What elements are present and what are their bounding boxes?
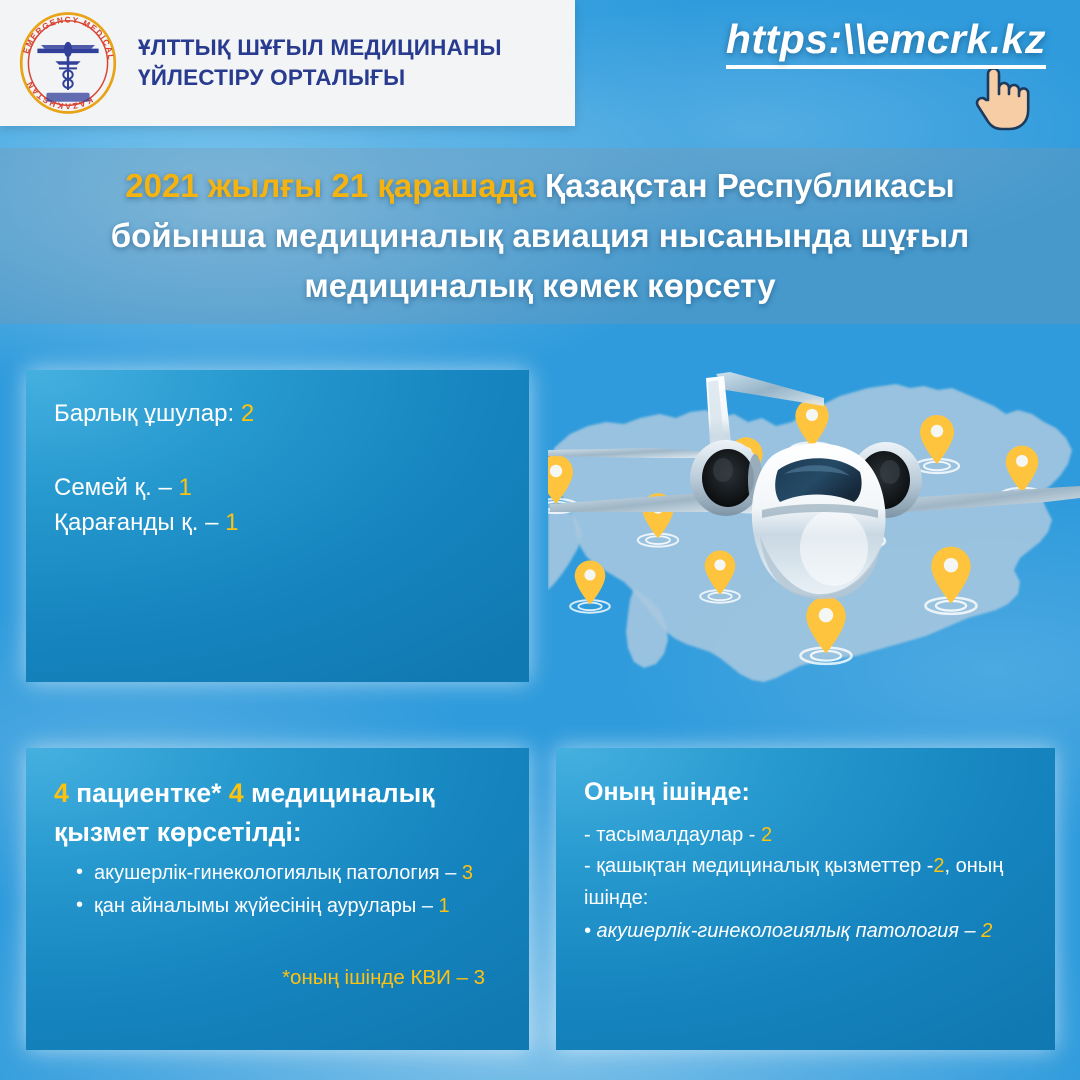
total-flights-label: Барлық ұшулар:	[54, 400, 234, 427]
diagnosis-label-0: акушерлік-гинекологиялық патология –	[94, 862, 456, 884]
panel-included-breakdown: Оның ішінде: - тасымалдаулар - 2 - қашық…	[556, 748, 1055, 1050]
patients-count: 4	[54, 778, 69, 808]
included-transports-label: - тасымалдаулар -	[584, 824, 755, 846]
panel-patients-served: 4 пациентке* 4 медициналық қызмет көрсет…	[26, 748, 529, 1050]
included-telemedicine-label: - қашықтан медициналық қызметтер -	[584, 855, 933, 877]
patients-heading-part1: пациентке*	[69, 778, 229, 808]
header-bar: EMERGENCY MEDICAL CARE OF KAZAKHSTAN	[0, 0, 575, 126]
diagnosis-value-0: 3	[462, 862, 473, 884]
infographic-poster: 2021 жылғы 21 қарашада Қазақстан Республ…	[0, 0, 1080, 1080]
included-sub-value: 2	[981, 920, 992, 942]
city-breakdown-list: Семей қ. – 1 Қарағанды қ. – 1	[54, 470, 503, 540]
diagnosis-label-1: қан айналымы жүйесінің аурулары –	[94, 895, 433, 917]
page-title: 2021 жылғы 21 қарашада Қазақстан Республ…	[75, 161, 1005, 311]
covid-footnote: *оның ішінде КВИ – 3	[54, 966, 503, 990]
city-value-semey: 1	[178, 474, 191, 501]
diagnosis-list: акушерлік-гинекологиялық патология – 3 қ…	[54, 857, 503, 922]
title-date-highlight: 2021 жылғы 21 қарашада	[125, 167, 536, 204]
title-band: 2021 жылғы 21 қарашада Қазақстан Республ…	[0, 148, 1080, 324]
city-row-semey: Семей қ. – 1	[54, 470, 503, 505]
included-telemedicine-value: 2	[933, 855, 944, 877]
included-heading: Оның ішінде:	[584, 774, 1029, 812]
patients-heading: 4 пациентке* 4 медициналық қызмет көрсет…	[54, 774, 503, 851]
included-telemedicine-row: - қашықтан медициналық қызметтер -2, оны…	[584, 851, 1029, 914]
included-sub-row: • акушерлік-гинекологиялық патология – 2	[584, 916, 1029, 948]
city-label-semey: Семей қ. –	[54, 474, 172, 501]
engine-left	[690, 440, 762, 516]
organization-name: ҰЛТТЫҚ ШҰҒЫЛ МЕДИЦИНАНЫ ҮЙЛЕСТІРУ ОРТАЛЫ…	[138, 33, 502, 92]
diagnosis-value-1: 1	[439, 895, 450, 917]
list-item: акушерлік-гинекологиялық патология – 3	[76, 857, 503, 889]
services-count: 4	[229, 778, 244, 808]
city-value-karagandy: 1	[225, 509, 238, 536]
total-flights-row: Барлық ұшулар: 2	[54, 396, 503, 432]
total-flights-value: 2	[241, 400, 254, 427]
map-aviation-artwork	[548, 352, 1080, 724]
site-url-link[interactable]: https:\\emcrk.kz	[726, 16, 1046, 69]
pointing-hand-cursor-icon	[972, 60, 1032, 132]
site-url-block[interactable]: https:\\emcrk.kz	[726, 16, 1046, 69]
panel-total-flights: Барлық ұшулар: 2 Семей қ. – 1 Қарағанды …	[26, 370, 529, 682]
city-row-karagandy: Қарағанды қ. – 1	[54, 505, 503, 540]
included-transports-value: 2	[761, 824, 772, 846]
list-item: қан айналымы жүйесінің аурулары – 1	[76, 890, 503, 922]
emblem-ornament	[46, 93, 89, 102]
city-label-karagandy: Қарағанды қ. –	[54, 509, 218, 536]
included-sub-label: • акушерлік-гинекологиялық патология –	[584, 920, 976, 942]
emblem-airplane-caduceus-icon: EMERGENCY MEDICAL CARE OF KAZAKHSTAN	[14, 9, 122, 117]
included-transports-row: - тасымалдаулар - 2	[584, 820, 1029, 852]
